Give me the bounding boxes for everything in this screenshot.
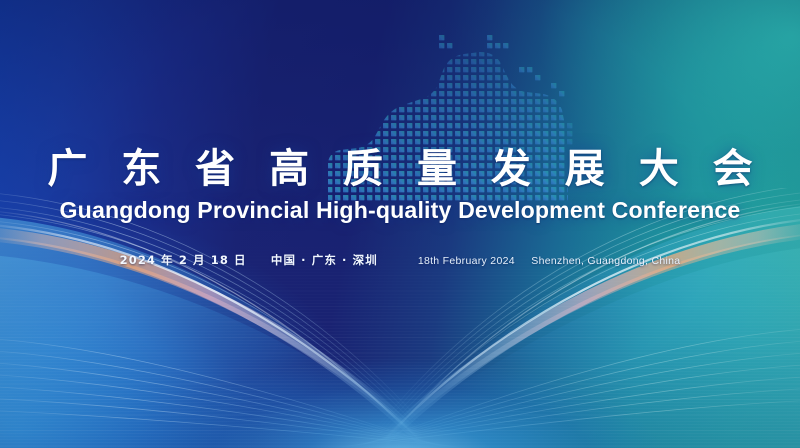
page-title-english: Guangdong Provincial High-quality Develo…: [6, 196, 794, 224]
event-date-chinese: 2024 年 2 月 18 日: [120, 253, 247, 267]
event-date-english: 18th February 2024: [418, 255, 515, 267]
event-location-english: Shenzhen, Guangdong, China: [531, 255, 680, 267]
event-meta-row: 2024 年 2 月 18 日 中国 · 广东 · 深圳 18th Februa…: [0, 252, 800, 268]
event-meta-chinese: 2024 年 2 月 18 日 中国 · 广东 · 深圳: [120, 252, 378, 268]
poster-text-content: 广 东 省 高 质 量 发 展 大 会 Guangdong Provincial…: [0, 0, 800, 448]
event-meta-english: 18th February 2024 Shenzhen, Guangdong, …: [418, 255, 681, 267]
page-title-chinese: 广 东 省 高 质 量 发 展 大 会: [0, 146, 800, 192]
conference-poster: 广 东 省 高 质 量 发 展 大 会 Guangdong Provincial…: [0, 0, 800, 448]
event-location-chinese: 中国 · 广东 · 深圳: [271, 253, 378, 267]
